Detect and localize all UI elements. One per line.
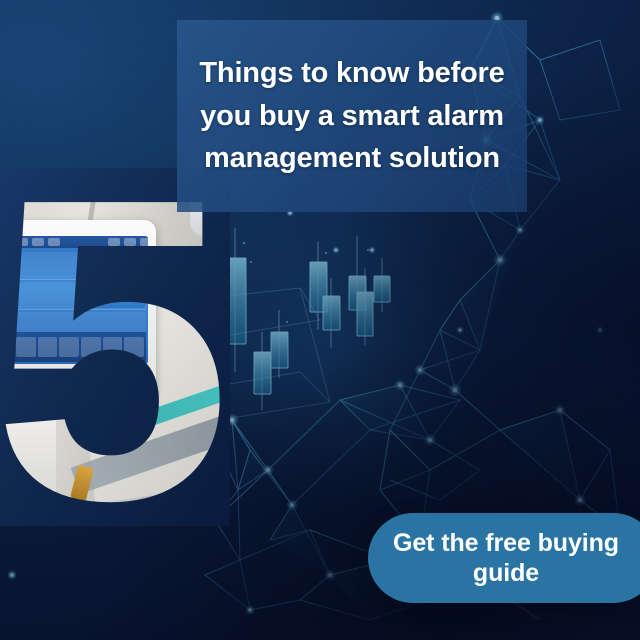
cta-button[interactable]: Get the free buying guide [368,513,640,603]
headline-text: Things to know before you buy a smart al… [177,52,527,180]
cta-button-label: Get the free buying guide [393,528,633,589]
photo-and-numeral: Tidal Volume 514 Respiratory Rate 15 CPA… [0,168,230,526]
headline-panel: Things to know before you buy a smart al… [177,20,527,212]
advertisement-banner: Tidal Volume 514 Respiratory Rate 15 CPA… [0,0,640,640]
numeral-five-overlay: 5 [0,168,230,526]
